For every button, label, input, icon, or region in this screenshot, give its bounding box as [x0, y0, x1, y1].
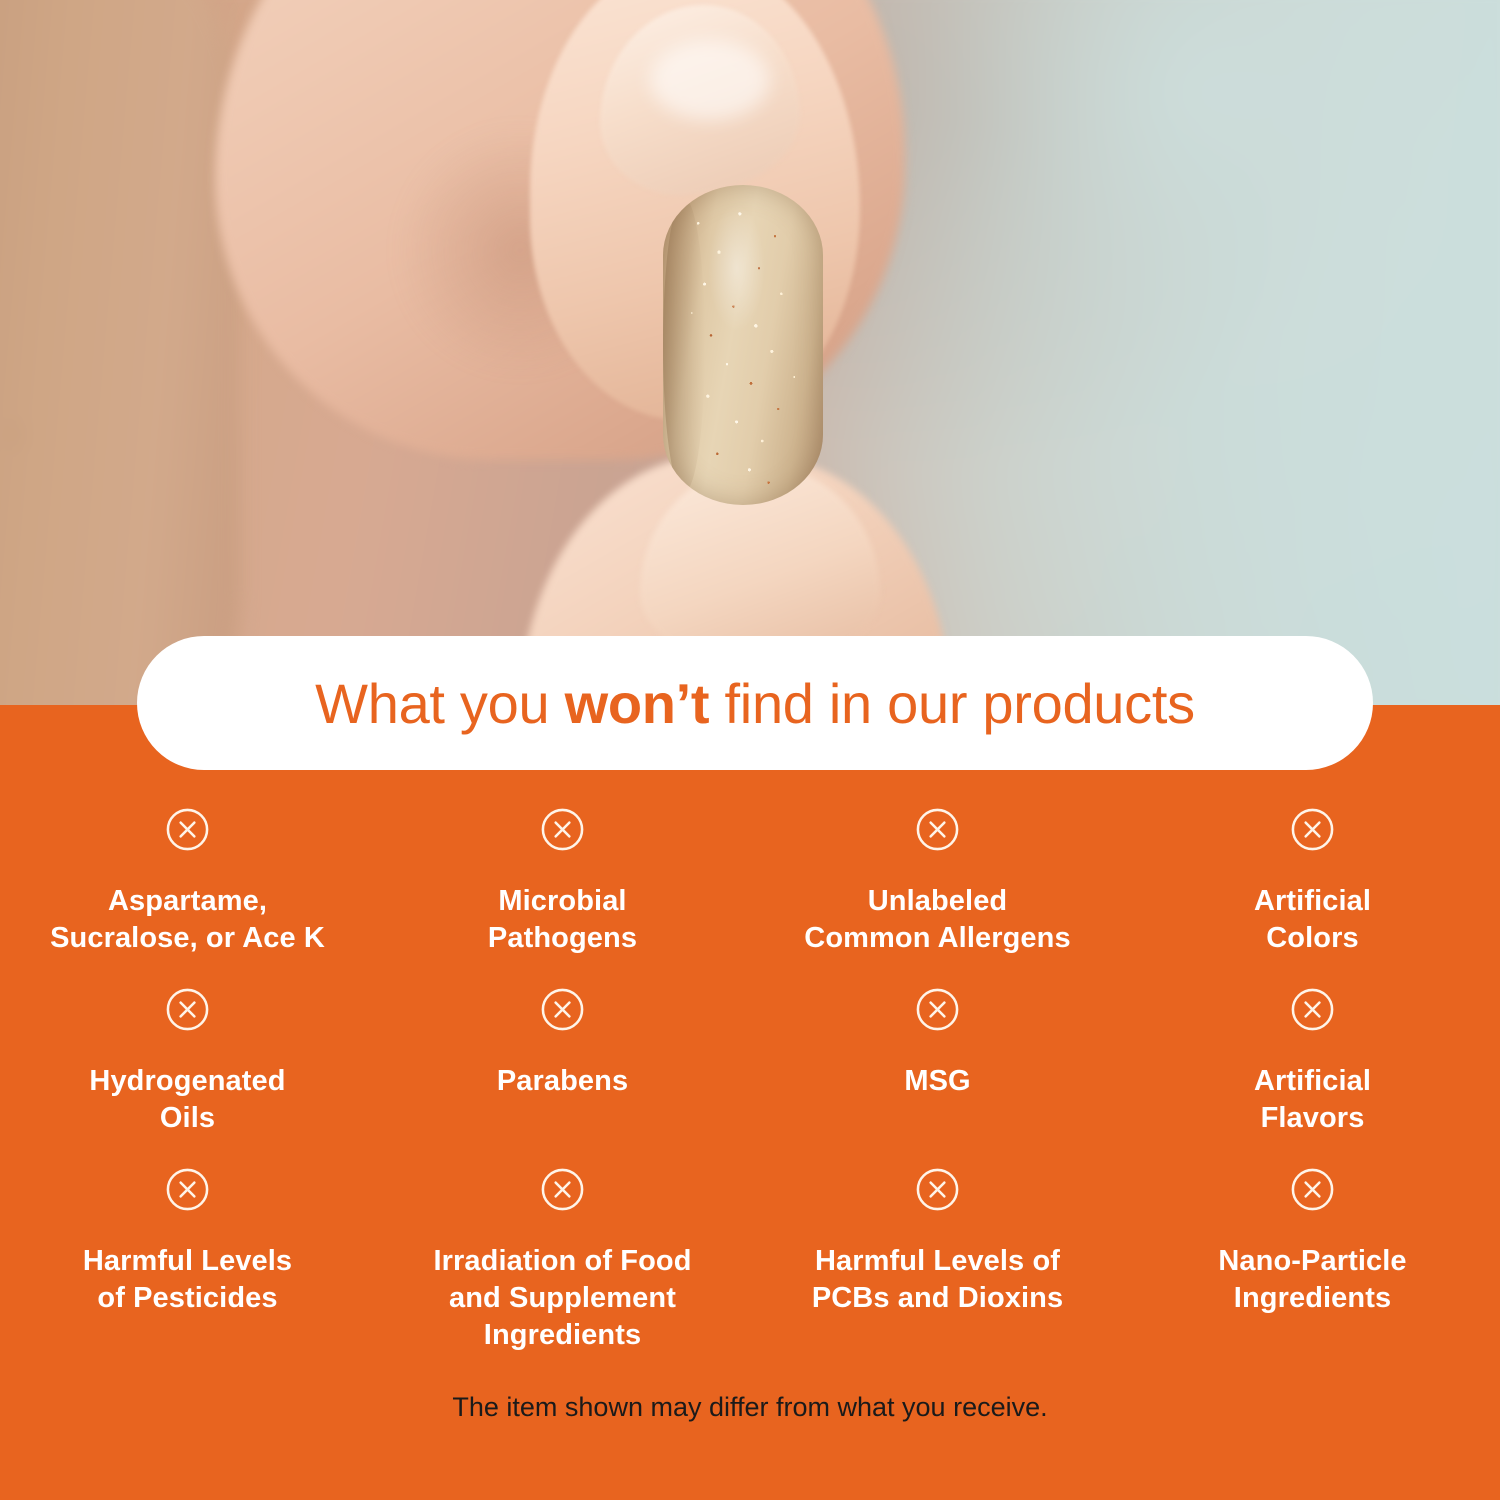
exclusion-label-line: Common Allergens: [766, 920, 1109, 957]
circle-x-icon: [164, 986, 211, 1033]
exclusion-item: Nano-ParticleIngredients: [1125, 1166, 1500, 1366]
exclusion-label-line: Hydrogenated: [16, 1063, 359, 1100]
exclusion-item: HydrogenatedOils: [0, 986, 375, 1166]
circle-x-icon: [1289, 1166, 1336, 1213]
exclusion-label-line: Harmful Levels of: [766, 1243, 1109, 1280]
exclusion-label: ArtificialFlavors: [1141, 1063, 1484, 1137]
exclusion-label-line: Flavors: [1141, 1100, 1484, 1137]
exclusion-label-line: Colors: [1141, 920, 1484, 957]
exclusion-label: Harmful Levelsof Pesticides: [16, 1243, 359, 1317]
circle-x-icon: [1289, 806, 1336, 853]
exclusion-label-line: Oils: [16, 1100, 359, 1137]
circle-x-icon: [914, 986, 961, 1033]
exclusion-item: ArtificialColors: [1125, 806, 1500, 986]
thumbnail-highlight: [650, 40, 770, 120]
exclusion-label: Parabens: [391, 1063, 734, 1100]
circle-x-icon: [914, 806, 961, 853]
blurred-forearm: [0, 0, 240, 705]
exclusion-label: Irradiation of Foodand SupplementIngredi…: [391, 1243, 734, 1354]
exclusion-label-line: Ingredients: [391, 1317, 734, 1354]
product-infographic: What you won’t find in our products Aspa…: [0, 0, 1500, 1500]
title-part-1: What you: [315, 672, 564, 735]
exclusion-label-line: Aspartame,: [16, 883, 359, 920]
exclusion-label-line: Sucralose, or Ace K: [16, 920, 359, 957]
exclusion-item: MSG: [750, 986, 1125, 1166]
page-title: What you won’t find in our products: [315, 671, 1195, 736]
exclusion-label-line: Artificial: [1141, 883, 1484, 920]
supplement-tablet: [663, 185, 823, 505]
exclusion-label: MSG: [766, 1063, 1109, 1100]
exclusion-item: ArtificialFlavors: [1125, 986, 1500, 1166]
exclusion-item: Harmful Levelsof Pesticides: [0, 1166, 375, 1366]
exclusions-grid: Aspartame,Sucralose, or Ace KMicrobialPa…: [0, 806, 1500, 1366]
circle-x-icon: [539, 1166, 586, 1213]
product-photo: [0, 0, 1500, 705]
exclusion-label: MicrobialPathogens: [391, 883, 734, 957]
circle-x-icon: [1289, 986, 1336, 1033]
exclusion-label-line: and Supplement: [391, 1280, 734, 1317]
exclusion-label-line: Irradiation of Food: [391, 1243, 734, 1280]
exclusion-label-line: PCBs and Dioxins: [766, 1280, 1109, 1317]
circle-x-icon: [164, 806, 211, 853]
exclusion-label-line: Unlabeled: [766, 883, 1109, 920]
exclusion-label-line: of Pesticides: [16, 1280, 359, 1317]
exclusion-item: UnlabeledCommon Allergens: [750, 806, 1125, 986]
tablet-edge-shadow: [663, 198, 705, 492]
circle-x-icon: [539, 806, 586, 853]
disclaimer-text: The item shown may differ from what you …: [0, 1392, 1500, 1423]
forearm-texture: [0, 220, 60, 560]
exclusion-label: Aspartame,Sucralose, or Ace K: [16, 883, 359, 957]
exclusion-label-line: Artificial: [1141, 1063, 1484, 1100]
exclusion-label: HydrogenatedOils: [16, 1063, 359, 1137]
circle-x-icon: [164, 1166, 211, 1213]
exclusion-item: Irradiation of Foodand SupplementIngredi…: [375, 1166, 750, 1366]
exclusion-item: MicrobialPathogens: [375, 806, 750, 986]
exclusion-label-line: Pathogens: [391, 920, 734, 957]
exclusion-label-line: Harmful Levels: [16, 1243, 359, 1280]
exclusion-label: UnlabeledCommon Allergens: [766, 883, 1109, 957]
exclusion-label: Harmful Levels ofPCBs and Dioxins: [766, 1243, 1109, 1317]
exclusion-label: ArtificialColors: [1141, 883, 1484, 957]
exclusion-label-line: Nano-Particle: [1141, 1243, 1484, 1280]
title-part-2: find in our products: [709, 672, 1195, 735]
tablet-highlight: [708, 204, 766, 332]
exclusion-label-line: MSG: [766, 1063, 1109, 1100]
exclusion-item: Parabens: [375, 986, 750, 1166]
title-emphasis: won’t: [565, 672, 710, 735]
exclusion-item: Harmful Levels ofPCBs and Dioxins: [750, 1166, 1125, 1366]
circle-x-icon: [914, 1166, 961, 1213]
exclusion-label-line: Parabens: [391, 1063, 734, 1100]
exclusion-label: Nano-ParticleIngredients: [1141, 1243, 1484, 1317]
circle-x-icon: [539, 986, 586, 1033]
exclusion-label-line: Ingredients: [1141, 1280, 1484, 1317]
exclusion-item: Aspartame,Sucralose, or Ace K: [0, 806, 375, 986]
headline-card: What you won’t find in our products: [137, 636, 1373, 770]
exclusion-label-line: Microbial: [391, 883, 734, 920]
